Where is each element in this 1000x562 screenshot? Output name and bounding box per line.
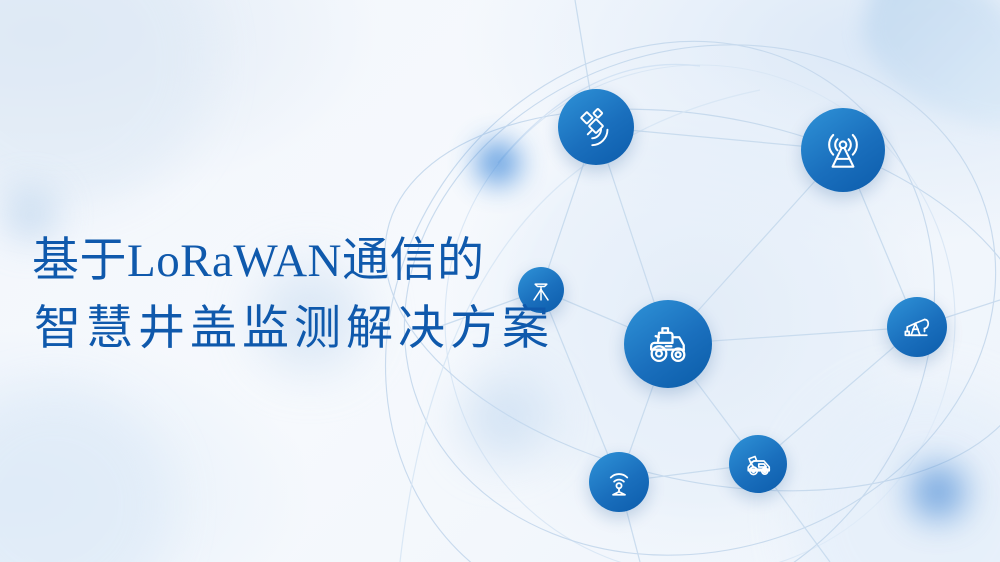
- oil-pumpjack-icon[interactable]: [887, 297, 947, 357]
- title-line-1: 基于LoRaWAN通信的: [32, 228, 552, 296]
- title-line-2: 智慧井盖监测解决方案: [32, 296, 552, 364]
- harvester-icon[interactable]: [729, 435, 787, 493]
- corner-blob-top-right: [862, 0, 1000, 127]
- satellite-icon[interactable]: [558, 89, 634, 165]
- wifi-sensor-icon[interactable]: [589, 452, 649, 512]
- soft-circle-top-left: [0, 0, 210, 210]
- page-title: 基于LoRaWAN通信的 智慧井盖监测解决方案: [32, 228, 552, 363]
- radio-tower-icon[interactable]: [801, 108, 885, 192]
- soft-circle-bottom-left: [0, 390, 170, 562]
- tractor-icon[interactable]: [624, 300, 712, 388]
- slide-canvas: 基于LoRaWAN通信的 智慧井盖监测解决方案: [0, 0, 1000, 562]
